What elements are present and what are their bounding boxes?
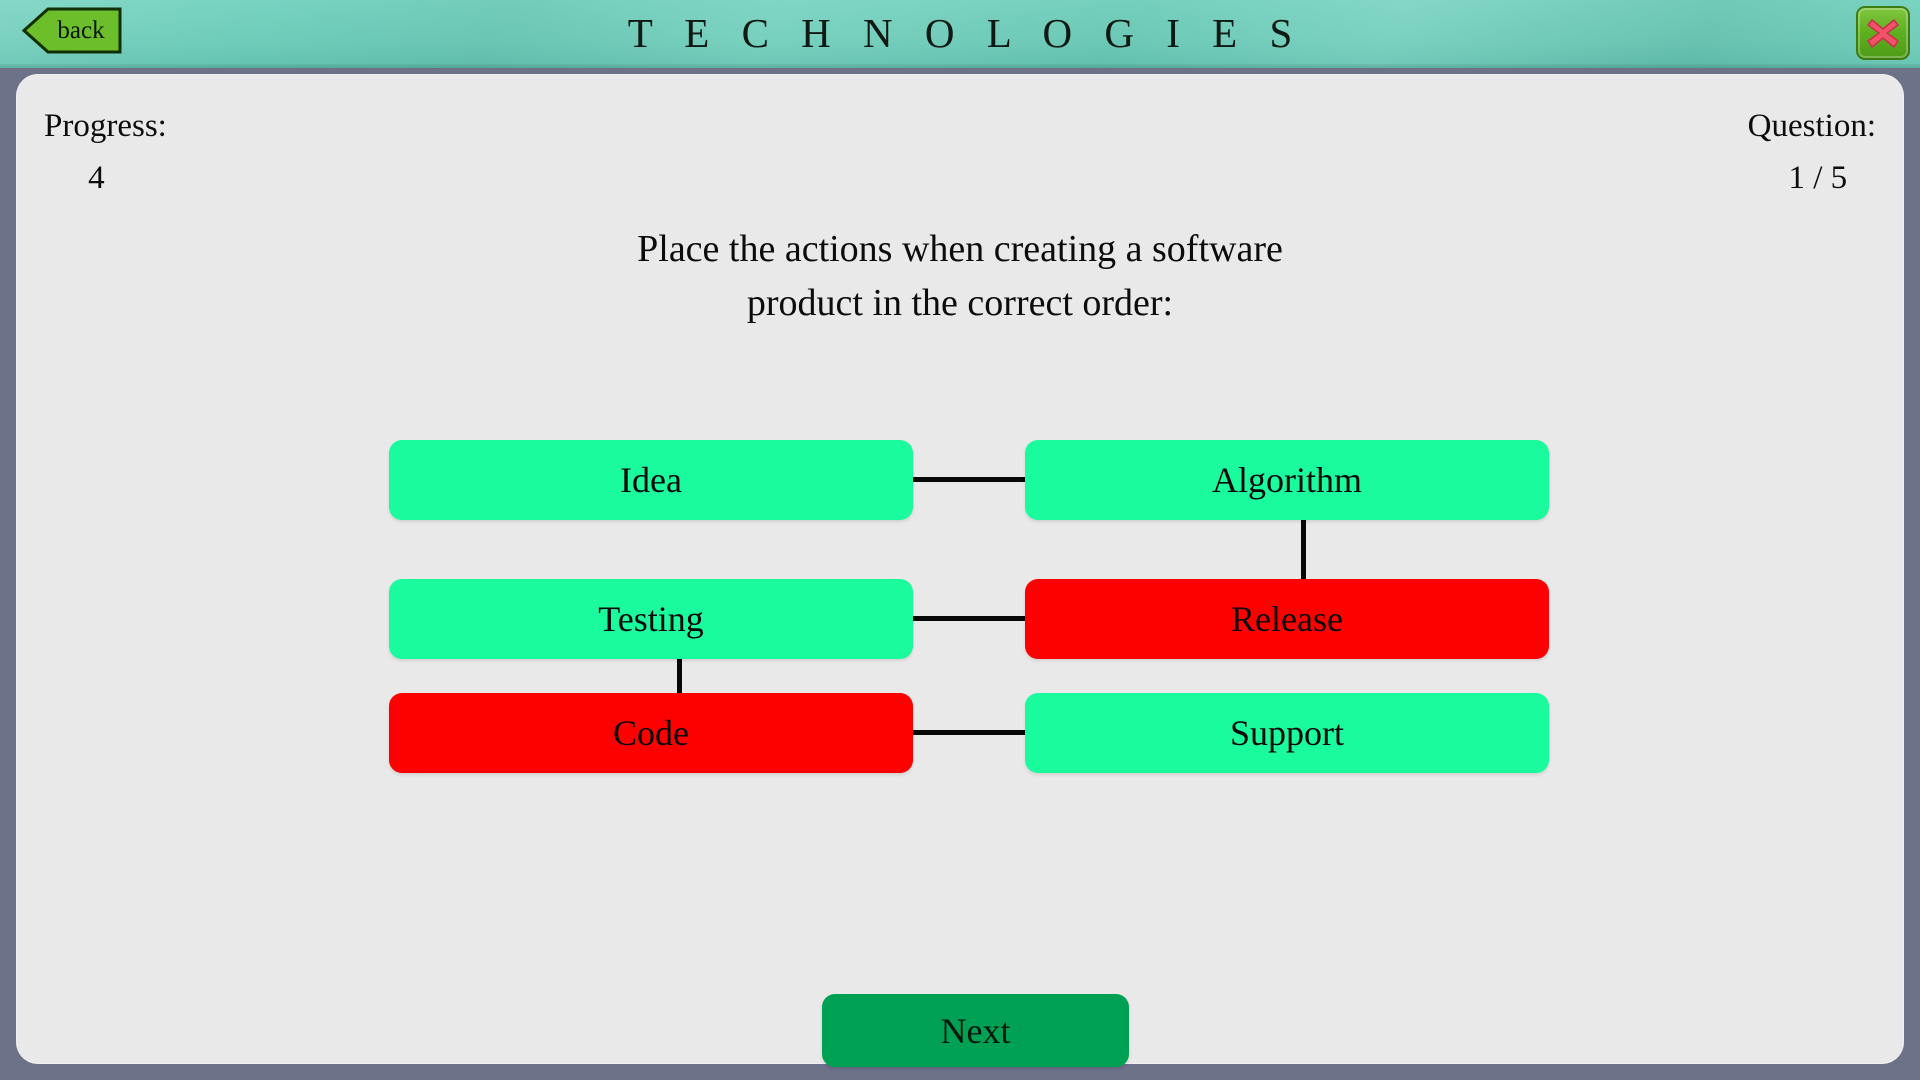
question-prompt: Place the actions when creating a softwa… xyxy=(16,222,1904,330)
question-label: Question: xyxy=(1748,100,1876,152)
answer-option-idea[interactable]: Idea xyxy=(389,440,913,520)
answer-option-support[interactable]: Support xyxy=(1025,693,1549,773)
answer-option-testing[interactable]: Testing xyxy=(389,579,913,659)
question-prompt-line-1: Place the actions when creating a softwa… xyxy=(16,222,1904,276)
progress-indicator: Progress: 4 xyxy=(44,100,167,204)
question-indicator: Question: 1 / 5 xyxy=(1748,100,1876,204)
close-x-icon xyxy=(1866,16,1900,50)
progress-value: 4 xyxy=(44,152,167,204)
answer-option-release[interactable]: Release xyxy=(1025,579,1549,659)
close-button[interactable] xyxy=(1856,6,1910,60)
question-prompt-line-2: product in the correct order: xyxy=(16,276,1904,330)
progress-label: Progress: xyxy=(44,100,167,152)
connector-testing-code xyxy=(677,659,682,693)
connector-algorithm-release xyxy=(1301,520,1306,579)
answer-option-algorithm[interactable]: Algorithm xyxy=(1025,440,1549,520)
connector-testing-release xyxy=(913,616,1025,621)
page-title: T E C H N O L O G I E S xyxy=(0,0,1920,68)
connector-idea-algorithm xyxy=(913,477,1025,482)
question-counter: 1 / 5 xyxy=(1748,152,1876,204)
content-panel: Progress: 4 Question: 1 / 5 Place the ac… xyxy=(16,74,1904,1064)
answer-option-code[interactable]: Code xyxy=(389,693,913,773)
answer-grid: Idea Algorithm Testing Release Code Supp… xyxy=(389,440,1549,810)
quiz-screen: back T E C H N O L O G I E S Progress: 4… xyxy=(0,0,1920,1080)
connector-code-support xyxy=(913,730,1025,735)
next-button[interactable]: Next xyxy=(822,994,1129,1067)
app-header: back T E C H N O L O G I E S xyxy=(0,0,1920,68)
